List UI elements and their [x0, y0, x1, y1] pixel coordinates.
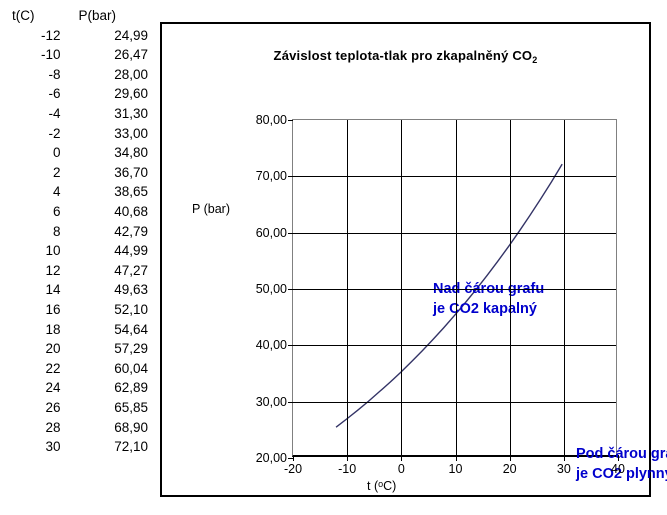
- cell-temperature: -12: [0, 26, 65, 46]
- cell-pressure: 72,10: [65, 437, 152, 457]
- table-body: -1224,99-1026,47-828,00-629,60-431,30-23…: [0, 26, 152, 457]
- data-table: t(C) P(bar) -1224,99-1026,47-828,00-629,…: [0, 6, 152, 457]
- table-row: 2462,89: [0, 378, 152, 398]
- x-tick-mark: [293, 455, 294, 461]
- gridline-horizontal: [293, 402, 616, 403]
- x-tick-label: 30: [557, 462, 571, 476]
- table-row: -828,00: [0, 65, 152, 85]
- x-tick-mark: [618, 455, 619, 461]
- x-tick-mark: [456, 455, 457, 461]
- y-tick-mark: [288, 402, 293, 403]
- cell-temperature: -6: [0, 84, 65, 104]
- table-row: -431,30: [0, 104, 152, 124]
- cell-pressure: 40,68: [65, 202, 152, 222]
- x-axis-label-text: t (: [367, 479, 378, 493]
- cell-temperature: 16: [0, 300, 65, 320]
- table-row: 842,79: [0, 222, 152, 242]
- cell-temperature: 6: [0, 202, 65, 222]
- table-row: 1854,64: [0, 320, 152, 340]
- table-row: 1652,10: [0, 300, 152, 320]
- cell-pressure: 44,99: [65, 241, 152, 261]
- cell-temperature: 24: [0, 378, 65, 398]
- cell-pressure: 38,65: [65, 182, 152, 202]
- chart-title-text: Závislost teplota-tlak pro zkapalněný CO: [274, 48, 533, 63]
- x-tick-label: -20: [284, 462, 302, 476]
- y-tick-mark: [288, 120, 293, 121]
- cell-temperature: -4: [0, 104, 65, 124]
- cell-temperature: 0: [0, 143, 65, 163]
- cell-pressure: 49,63: [65, 280, 152, 300]
- x-tick-mark: [564, 455, 565, 461]
- gridline-vertical: [401, 120, 402, 455]
- x-tick-label: 10: [449, 462, 463, 476]
- table-row: 1449,63: [0, 280, 152, 300]
- cell-temperature: 14: [0, 280, 65, 300]
- x-axis-label-degree: o: [378, 479, 383, 489]
- column-header-pressure: P(bar): [65, 6, 152, 26]
- cell-pressure: 60,04: [65, 359, 152, 379]
- table-row: 2260,04: [0, 359, 152, 379]
- gridline-horizontal: [293, 345, 616, 346]
- gridline-vertical: [510, 120, 511, 455]
- column-header-temperature: t(C): [0, 6, 65, 26]
- x-axis-label: t (oC): [367, 479, 396, 493]
- cell-temperature: 4: [0, 182, 65, 202]
- cell-temperature: 20: [0, 339, 65, 359]
- cell-temperature: 28: [0, 417, 65, 437]
- table-header-row: t(C) P(bar): [0, 6, 152, 26]
- gridline-vertical: [564, 120, 565, 455]
- y-tick-label: 30,00: [256, 395, 287, 409]
- gridline-vertical: [347, 120, 348, 455]
- cell-pressure: 31,30: [65, 104, 152, 124]
- table-row: 3072,10: [0, 437, 152, 457]
- table-row: 034,80: [0, 143, 152, 163]
- y-axis-label: P (bar): [192, 202, 230, 216]
- gridline-horizontal: [293, 233, 616, 234]
- cell-pressure: 52,10: [65, 300, 152, 320]
- annotation-liquid: Nad čárou grafu je CO2 kapalný: [433, 280, 544, 319]
- chart-title-subscript: 2: [532, 55, 537, 65]
- cell-temperature: -10: [0, 45, 65, 65]
- y-tick-label: 70,00: [256, 169, 287, 183]
- cell-temperature: 22: [0, 359, 65, 379]
- table-row: -233,00: [0, 124, 152, 144]
- cell-pressure: 47,27: [65, 261, 152, 281]
- annotation-liquid-line2: je CO2 kapalný: [433, 300, 544, 320]
- cell-temperature: 12: [0, 261, 65, 281]
- x-tick-label: -10: [338, 462, 356, 476]
- chart-frame: Závislost teplota-tlak pro zkapalněný CO…: [160, 22, 651, 497]
- x-tick-mark: [347, 455, 348, 461]
- plot-area: Nad čárou grafu je CO2 kapalný Pod čárou…: [292, 119, 617, 457]
- table-row: 2057,29: [0, 339, 152, 359]
- cell-pressure: 29,60: [65, 84, 152, 104]
- cell-temperature: 26: [0, 398, 65, 418]
- table-row: 2665,85: [0, 398, 152, 418]
- cell-temperature: 8: [0, 222, 65, 242]
- cell-pressure: 68,90: [65, 417, 152, 437]
- cell-pressure: 34,80: [65, 143, 152, 163]
- cell-temperature: 10: [0, 241, 65, 261]
- cell-temperature: -8: [0, 65, 65, 85]
- table-row: 438,65: [0, 182, 152, 202]
- cell-temperature: 30: [0, 437, 65, 457]
- x-tick-mark: [510, 455, 511, 461]
- table-row: 2868,90: [0, 417, 152, 437]
- table-row: -1026,47: [0, 45, 152, 65]
- cell-pressure: 33,00: [65, 124, 152, 144]
- x-tick-label: 40: [611, 462, 625, 476]
- y-tick-label: 80,00: [256, 113, 287, 127]
- cell-pressure: 65,85: [65, 398, 152, 418]
- y-tick-label: 20,00: [256, 451, 287, 465]
- gridline-horizontal: [293, 289, 616, 290]
- table-row: 1044,99: [0, 241, 152, 261]
- cell-pressure: 26,47: [65, 45, 152, 65]
- gridline-vertical: [456, 120, 457, 455]
- cell-pressure: 36,70: [65, 163, 152, 183]
- x-tick-label: 0: [398, 462, 405, 476]
- cell-pressure: 42,79: [65, 222, 152, 242]
- y-tick-label: 50,00: [256, 282, 287, 296]
- cell-pressure: 24,99: [65, 26, 152, 46]
- x-axis-label-tail: C): [383, 479, 396, 493]
- table-header: t(C) P(bar): [0, 6, 152, 26]
- x-tick-label: 20: [503, 462, 517, 476]
- y-tick-label: 60,00: [256, 226, 287, 240]
- cell-temperature: -2: [0, 124, 65, 144]
- table-row: 236,70: [0, 163, 152, 183]
- x-tick-mark: [401, 455, 402, 461]
- temperature-pressure-table: t(C) P(bar) -1224,99-1026,47-828,00-629,…: [0, 6, 152, 457]
- gridline-horizontal: [293, 176, 616, 177]
- cell-pressure: 62,89: [65, 378, 152, 398]
- cell-temperature: 18: [0, 320, 65, 340]
- y-tick-mark: [288, 233, 293, 234]
- chart-title: Závislost teplota-tlak pro zkapalněný CO…: [162, 48, 649, 63]
- y-tick-mark: [288, 176, 293, 177]
- cell-temperature: 2: [0, 163, 65, 183]
- y-tick-label: 40,00: [256, 338, 287, 352]
- table-row: 1247,27: [0, 261, 152, 281]
- table-row: -629,60: [0, 84, 152, 104]
- cell-pressure: 54,64: [65, 320, 152, 340]
- y-tick-mark: [288, 289, 293, 290]
- table-row: 640,68: [0, 202, 152, 222]
- cell-pressure: 57,29: [65, 339, 152, 359]
- table-row: -1224,99: [0, 26, 152, 46]
- cell-pressure: 28,00: [65, 65, 152, 85]
- y-tick-mark: [288, 345, 293, 346]
